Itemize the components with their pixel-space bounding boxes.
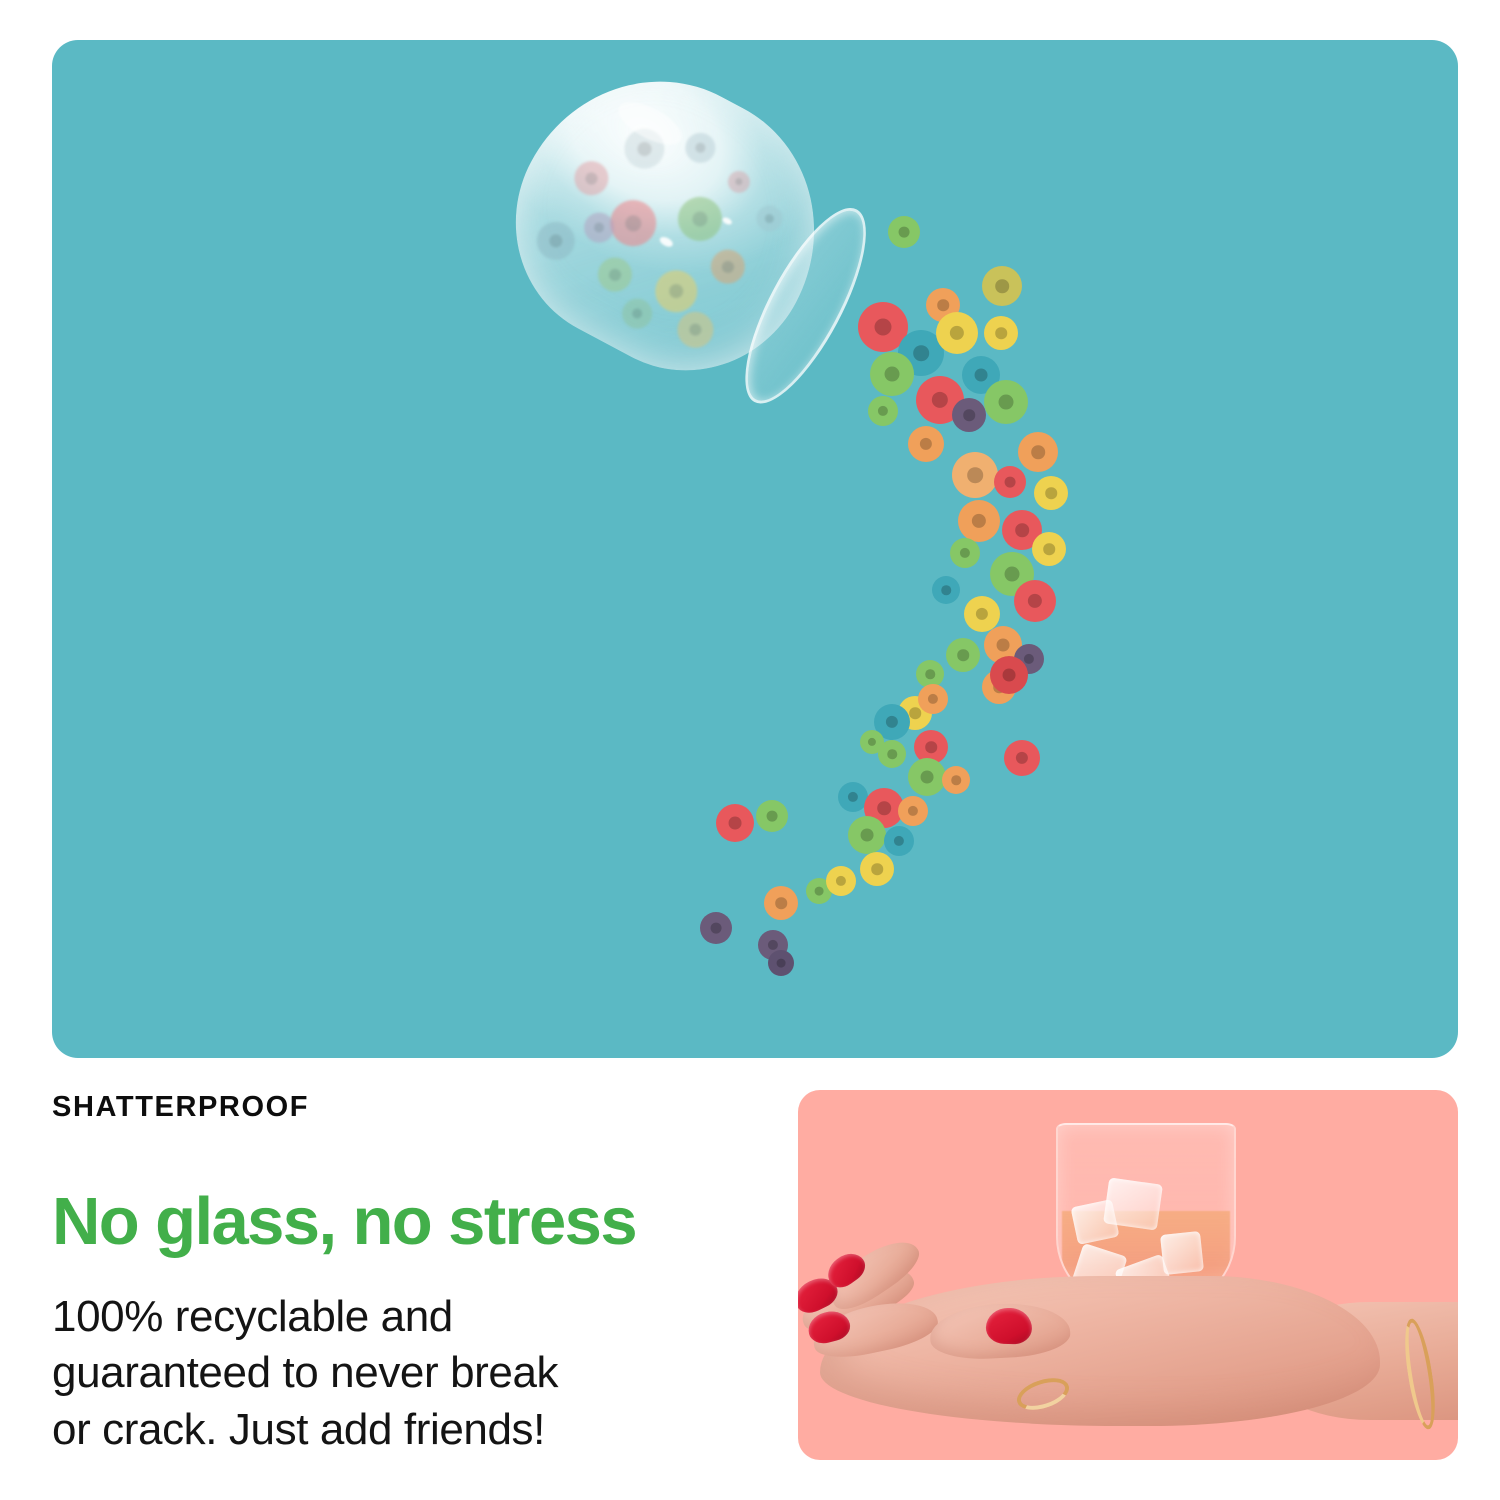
hand-holding-glass xyxy=(798,1090,1458,1460)
headline: No glass, no stress xyxy=(52,1188,742,1255)
body-copy: 100% recyclable and guaranteed to never … xyxy=(52,1289,742,1458)
cereal-spill-hero xyxy=(52,40,1458,1058)
body-line-1: 100% recyclable and xyxy=(52,1292,453,1341)
body-line-2: guaranteed to never break xyxy=(52,1348,558,1397)
body-line-3: or crack. Just add friends! xyxy=(52,1405,545,1454)
eyebrow-label: SHATTERPROOF xyxy=(52,1093,742,1122)
hand xyxy=(798,1258,1458,1460)
palm xyxy=(820,1276,1380,1426)
copy-block: SHATTERPROOF No glass, no stress 100% re… xyxy=(52,1093,742,1458)
tumbler-glass xyxy=(464,40,900,448)
poster-canvas: SHATTERPROOF No glass, no stress 100% re… xyxy=(0,0,1500,1500)
